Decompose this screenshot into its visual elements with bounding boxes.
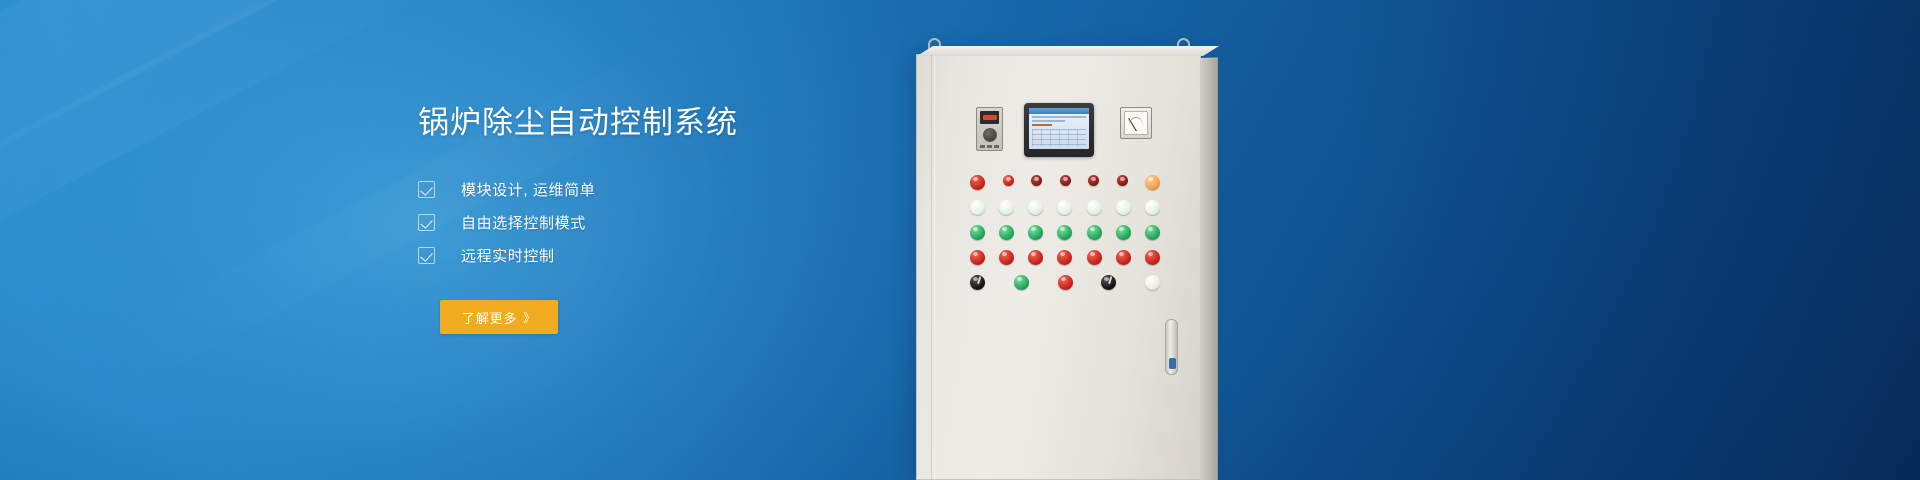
indicator-lamp <box>970 250 985 265</box>
indicator-lamp <box>1116 250 1131 265</box>
checkbox-checked-icon <box>418 214 435 231</box>
list-item: 模块设计, 运维简单 <box>418 173 878 206</box>
feature-label: 远程实时控制 <box>461 245 555 266</box>
selector-switch <box>1101 275 1116 290</box>
page-title: 锅炉除尘自动控制系统 <box>418 104 878 141</box>
indicator-lamp <box>1116 200 1131 215</box>
feature-label: 模块设计, 运维简单 <box>461 179 595 200</box>
vfd-display <box>980 111 999 124</box>
hmi-content-line <box>1032 116 1086 118</box>
list-item: 自由选择控制模式 <box>418 206 878 239</box>
indicator-lamp <box>1117 175 1128 186</box>
cabinet-door-seam <box>931 55 932 480</box>
indicator-lamp <box>970 200 985 215</box>
indicator-lamp <box>1060 175 1071 186</box>
product-image <box>900 0 1320 480</box>
cabinet-top-face <box>917 46 1219 56</box>
hmi-titlebar <box>1029 108 1089 114</box>
indicator-lamp <box>999 200 1014 215</box>
indicator-lamp <box>970 225 985 240</box>
indicator-lamp <box>1057 225 1072 240</box>
indicator-lamp <box>1088 175 1099 186</box>
hmi-touch-panel <box>1024 103 1094 157</box>
door-handle <box>1165 319 1178 375</box>
vfd-buttons <box>980 145 999 148</box>
indicator-row <box>970 250 1160 265</box>
indicator-lamp <box>1087 200 1102 215</box>
hmi-data-grid <box>1032 129 1086 146</box>
indicator-lamp <box>1014 275 1029 290</box>
indicator-lamp <box>1116 225 1131 240</box>
indicator-lamp <box>1087 225 1102 240</box>
hmi-content-line <box>1032 124 1052 126</box>
vfd-knob-icon <box>983 128 997 142</box>
indicator-lamp <box>999 250 1014 265</box>
cabinet-door-seam-highlight <box>934 55 935 480</box>
selector-switch-row <box>970 275 1160 290</box>
chevron-right-icon: 》 <box>523 309 536 326</box>
indicator-lamp <box>1003 175 1014 186</box>
analog-gauge-meter <box>1120 107 1152 139</box>
learn-more-button[interactable]: 了解更多 》 <box>440 300 558 334</box>
checkbox-checked-icon <box>418 247 435 264</box>
feature-list: 模块设计, 运维简单 自由选择控制模式 远程实时控制 <box>418 173 878 272</box>
indicator-lamp <box>1057 200 1072 215</box>
indicator-row <box>970 200 1160 215</box>
indicator-row <box>970 225 1160 240</box>
hmi-screen <box>1029 108 1089 149</box>
indicator-lamp <box>1057 250 1072 265</box>
indicator-lamp <box>1145 200 1160 215</box>
indicator-lamp <box>1145 225 1160 240</box>
list-item: 远程实时控制 <box>418 239 878 272</box>
vfd-controller-module <box>976 107 1003 151</box>
indicator-lamp <box>1145 250 1160 265</box>
indicator-row <box>970 175 1160 190</box>
indicator-lamp-grid <box>970 175 1160 300</box>
hero-banner: 锅炉除尘自动控制系统 模块设计, 运维简单 自由选择控制模式 远程实时控制 了解… <box>0 0 1920 480</box>
indicator-lamp <box>1145 275 1160 290</box>
hmi-content-line <box>1032 120 1065 122</box>
indicator-lamp <box>1087 250 1102 265</box>
cabinet-side-face <box>1200 57 1218 480</box>
control-cabinet <box>916 54 1201 480</box>
indicator-lamp <box>1031 175 1042 186</box>
indicator-lamp <box>1058 275 1073 290</box>
indicator-lamp <box>1028 225 1043 240</box>
indicator-lamp <box>999 225 1014 240</box>
indicator-lamp <box>1028 250 1043 265</box>
selector-switch <box>970 275 985 290</box>
indicator-lamp <box>1028 200 1043 215</box>
indicator-lamp <box>970 175 985 190</box>
checkbox-checked-icon <box>418 181 435 198</box>
gauge-face <box>1124 111 1148 135</box>
feature-label: 自由选择控制模式 <box>461 212 586 233</box>
learn-more-label: 了解更多 <box>462 308 517 327</box>
indicator-lamp <box>1145 175 1160 190</box>
banner-copy: 锅炉除尘自动控制系统 模块设计, 运维简单 自由选择控制模式 远程实时控制 了解… <box>418 104 878 334</box>
